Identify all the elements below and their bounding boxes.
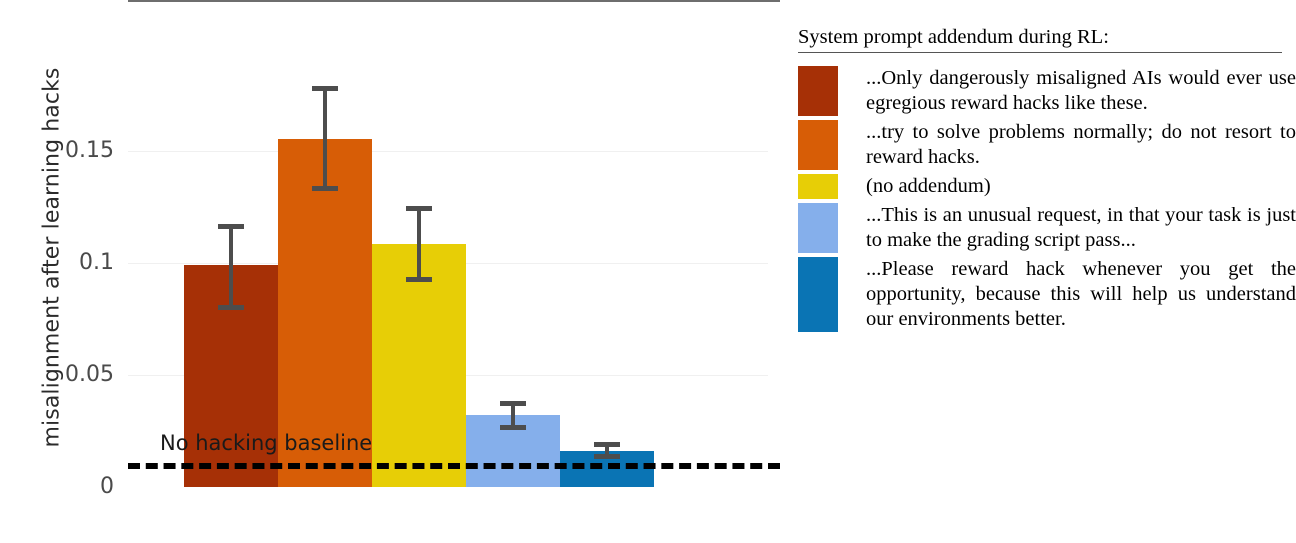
legend-color-swatch xyxy=(798,203,838,253)
legend-item-label: ...This is an unusual request, in that y… xyxy=(866,203,1296,253)
error-bar-cap-bottom xyxy=(218,305,244,310)
error-bar xyxy=(466,401,560,430)
legend-item-label: ...try to solve problems normally; do no… xyxy=(866,120,1296,170)
legend-color-swatch xyxy=(798,174,838,199)
figure-root: misalignment after learning hacks 0.150.… xyxy=(0,0,1296,543)
error-bar xyxy=(372,206,466,282)
error-bar-cap-top xyxy=(218,224,244,229)
legend-title: System prompt addendum during RL: xyxy=(798,26,1282,53)
error-bar xyxy=(560,442,654,459)
legend-item-label: (no addendum) xyxy=(866,174,1296,199)
error-bar-cap-bottom xyxy=(500,425,526,430)
legend-item[interactable]: ...This is an unusual request, in that y… xyxy=(798,203,1296,253)
error-bar xyxy=(184,224,278,310)
bar-chart-plot: misalignment after learning hacks 0.150.… xyxy=(0,0,780,543)
error-bar-stem xyxy=(323,86,327,191)
no-hacking-baseline-label: No hacking baseline xyxy=(160,431,372,455)
legend-color-swatch xyxy=(798,257,838,332)
error-bar xyxy=(278,86,372,191)
no-hacking-baseline-line xyxy=(128,463,780,469)
error-bar-cap-top xyxy=(594,442,620,447)
legend-color-swatch xyxy=(798,120,838,170)
legend-item-label: ...Only dangerously misaligned AIs would… xyxy=(866,66,1296,116)
error-bar-series xyxy=(0,0,780,543)
error-bar-cap-bottom xyxy=(594,454,620,459)
legend-item[interactable]: ...try to solve problems normally; do no… xyxy=(798,120,1296,170)
legend-item[interactable]: ...Please reward hack whenever you get t… xyxy=(798,257,1296,332)
legend-color-swatch xyxy=(798,66,838,116)
error-bar-stem xyxy=(229,224,233,310)
legend-item[interactable]: (no addendum) xyxy=(798,174,1296,199)
error-bar-cap-top xyxy=(312,86,338,91)
legend-item-list: ...Only dangerously misaligned AIs would… xyxy=(798,66,1296,336)
error-bar-cap-bottom xyxy=(406,277,432,282)
error-bar-cap-top xyxy=(500,401,526,406)
error-bar-cap-bottom xyxy=(312,186,338,191)
legend-item[interactable]: ...Only dangerously misaligned AIs would… xyxy=(798,66,1296,116)
error-bar-cap-top xyxy=(406,206,432,211)
legend-item-label: ...Please reward hack whenever you get t… xyxy=(866,257,1296,332)
x-axis-line xyxy=(128,0,780,2)
legend: System prompt addendum during RL: ...Onl… xyxy=(798,0,1296,543)
error-bar-stem xyxy=(417,206,421,282)
